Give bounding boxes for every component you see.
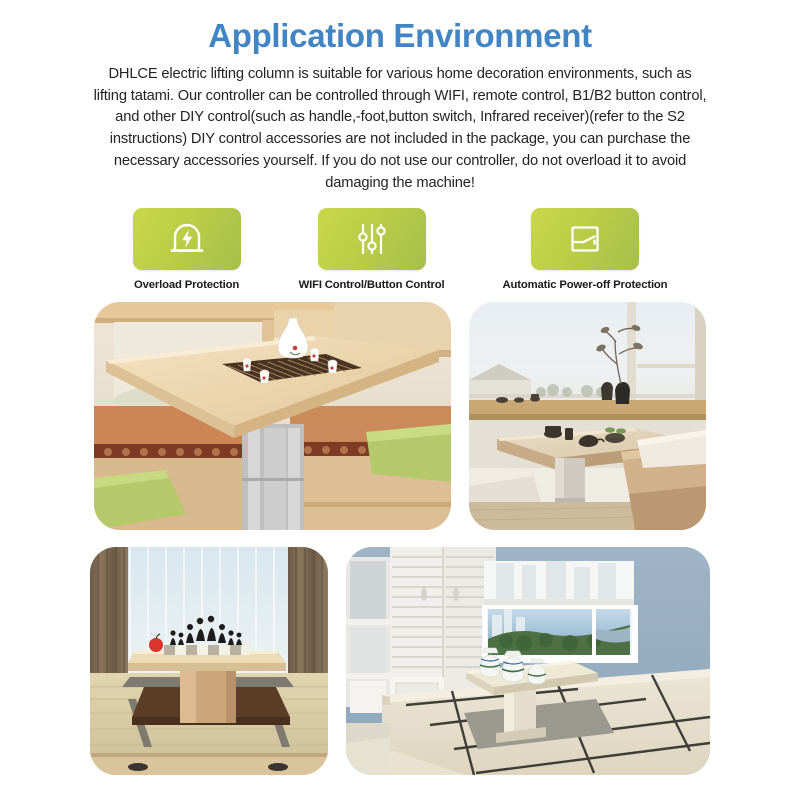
- overload-protection-icon: [167, 220, 207, 258]
- feature-label-2: WIFI Control/Button Control: [299, 279, 445, 291]
- feature-badge-3: [531, 208, 639, 270]
- photo-row-top: [0, 302, 800, 530]
- photo-window-table-tea-set: [469, 302, 706, 530]
- photo-blue-room-platform-table: [346, 547, 710, 775]
- feature-wifi-button-control: WIFI Control/Button Control: [299, 208, 445, 291]
- feature-badge-row: Overload Protection WIFI Control/Button …: [0, 208, 800, 291]
- sliders-control-icon: [352, 220, 392, 258]
- photo-row-bottom: [0, 547, 800, 775]
- intro-paragraph: DHLCE electric lifting column is suitabl…: [90, 64, 710, 195]
- photo-gallery: [0, 302, 800, 775]
- feature-badge-2: [318, 208, 426, 270]
- feature-badge-1: [133, 208, 241, 270]
- feature-auto-power-off: Automatic Power-off Protection: [502, 208, 667, 291]
- page-title: Application Environment: [0, 0, 800, 55]
- power-off-switch-icon: [565, 220, 605, 258]
- photo-tatami-table-sake-set: [94, 302, 451, 530]
- photo-tatami-room-chess-table: [90, 547, 328, 775]
- feature-overload-protection: Overload Protection: [133, 208, 241, 291]
- feature-label-1: Overload Protection: [134, 279, 239, 291]
- feature-label-3: Automatic Power-off Protection: [502, 279, 667, 291]
- application-environment-page: Application Environment DHLCE electric l…: [0, 0, 800, 800]
